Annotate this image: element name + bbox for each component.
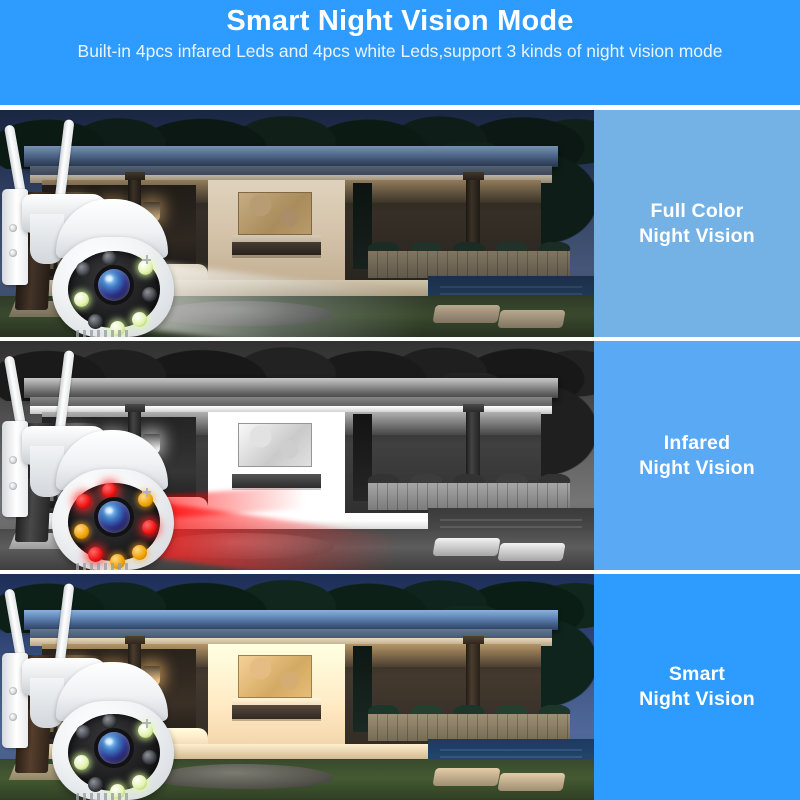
photo-infared [0, 341, 594, 570]
panel-smart-night-vision: Smart Night Vision [0, 574, 800, 800]
lounger [497, 310, 566, 328]
lounger [432, 768, 501, 786]
tree-trunk [15, 423, 54, 542]
garden-rock [154, 533, 332, 558]
ceiling-fan [53, 655, 101, 660]
page-subtitle: Built-in 4pcs infared Leds and 4pcs whit… [78, 40, 723, 63]
label-smart-night-vision: Smart Night Vision [594, 574, 800, 800]
roof-slab [24, 378, 559, 399]
counter-cabinet [232, 705, 321, 719]
pendant-lamp [143, 434, 161, 455]
pendant-lamp [143, 666, 161, 686]
label-line-1: Full Color [639, 199, 755, 224]
pendant-lamp [104, 667, 122, 687]
lounger [497, 543, 566, 561]
pendant-lamp [143, 202, 161, 222]
label-line-1: Infared [639, 431, 755, 456]
scene-villa-grayscale [0, 341, 594, 570]
panel-full-color-night-vision: Full Color Night Vision [0, 110, 800, 337]
column-capital [463, 636, 483, 644]
roof-slab [24, 610, 559, 630]
page-title: Smart Night Vision Mode [226, 4, 573, 38]
label-text: Full Color Night Vision [639, 199, 755, 249]
lounger [497, 773, 566, 791]
pendant-lamp [65, 664, 83, 684]
tree-trunk [15, 192, 54, 310]
label-line-2: Night Vision [639, 456, 755, 481]
scene-villa-dusk [0, 110, 594, 337]
tree-trunk [15, 655, 54, 773]
pendant-lamp [65, 201, 83, 221]
garden-rock [154, 301, 332, 326]
label-full-color-night-vision: Full Color Night Vision [594, 110, 800, 337]
stone-retaining-wall [368, 714, 570, 741]
photo-smart [0, 574, 594, 800]
stone-art-panel [238, 192, 312, 235]
stone-art-panel [238, 655, 312, 698]
column-capital [463, 172, 483, 180]
ceiling-fan [53, 423, 101, 428]
label-text: Smart Night Vision [639, 662, 755, 712]
label-infared-night-vision: Infared Night Vision [594, 341, 800, 570]
label-text: Infared Night Vision [639, 431, 755, 481]
product-feature-image: Smart Night Vision Mode Built-in 4pcs in… [0, 0, 800, 800]
pendant-lamp [65, 433, 83, 454]
roof-slab [24, 146, 559, 166]
stone-retaining-wall [368, 483, 570, 510]
stone-art-panel [238, 423, 312, 467]
photo-full-color [0, 110, 594, 337]
scene-villa-bright [0, 574, 594, 800]
counter-cabinet [232, 242, 321, 256]
column-capital [463, 404, 483, 412]
counter-cabinet [232, 474, 321, 488]
label-line-2: Night Vision [639, 687, 755, 712]
pendant-lamp [104, 435, 122, 456]
stone-retaining-wall [368, 251, 570, 278]
garden-rock [154, 764, 332, 789]
column-capital [125, 404, 145, 412]
pendant-lamp [104, 203, 122, 223]
column-capital [125, 172, 145, 180]
panel-infared-night-vision: Infared Night Vision [0, 341, 800, 570]
lounger [432, 305, 501, 323]
header-banner: Smart Night Vision Mode Built-in 4pcs in… [0, 0, 800, 105]
column-capital [125, 636, 145, 644]
label-line-2: Night Vision [639, 224, 755, 249]
label-line-1: Smart [639, 662, 755, 687]
lounger [432, 538, 501, 556]
